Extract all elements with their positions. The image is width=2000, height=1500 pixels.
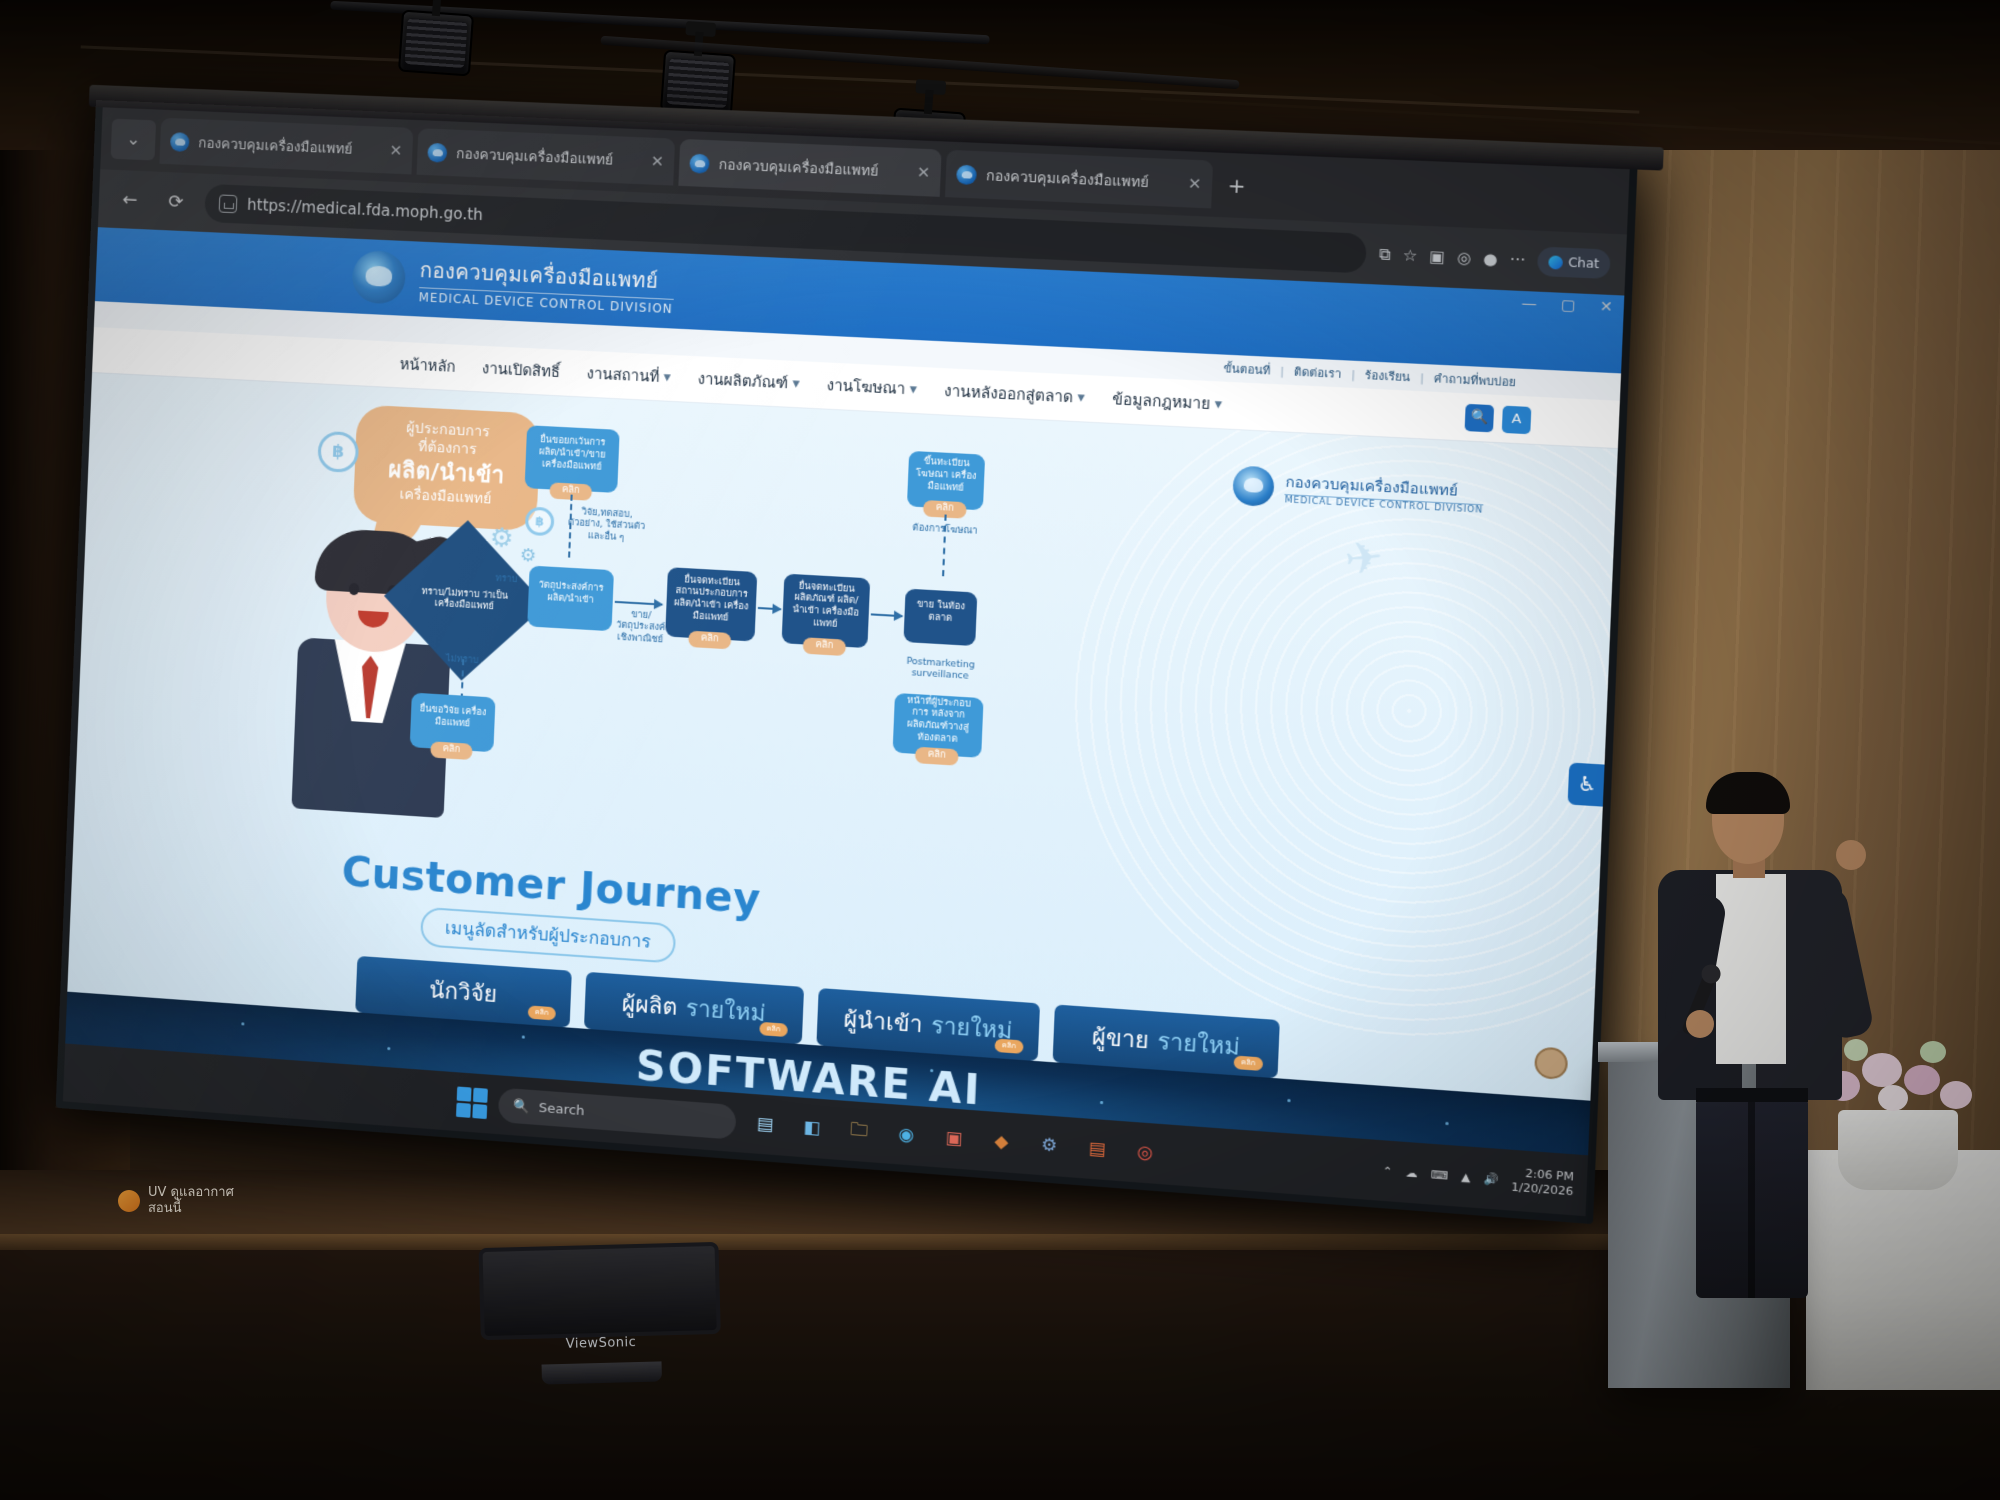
edge-icon[interactable]: ◉ — [888, 1116, 925, 1154]
uv-line-1: UV ดูแลอากาศ — [148, 1185, 234, 1201]
click-badge: คลิก — [994, 1038, 1023, 1053]
journey-title-block: Customer Journey เมนูลัดสำหรับผู้ประกอบก… — [333, 848, 768, 969]
customer-journey-infographic: กองควบคุมเครื่องมือแพทย์ MEDICAL DEVICE … — [65, 373, 1618, 1155]
task-view-icon[interactable]: ▤ — [747, 1106, 784, 1143]
chevron-down-icon: ▼ — [1077, 393, 1085, 404]
volume-icon[interactable]: 🔊 — [1483, 1171, 1499, 1186]
nav-item-establishment[interactable]: งานสถานที่▼ — [586, 362, 671, 390]
site-title-block: กองควบคุมเครื่องมือแพทย์ MEDICAL DEVICE … — [418, 254, 674, 316]
flow-arrow — [758, 607, 781, 610]
system-tray: ⌃ ☁ ⌨ ▲ 🔊 2:06 PM 1/20/2026 — [1382, 1156, 1574, 1199]
back-icon[interactable]: ← — [112, 182, 147, 217]
flow-label-commercial: ขาย/ วัตถุประสงค์ เชิงพาณิชย์ — [609, 609, 672, 647]
nav-item-permissions[interactable]: งานเปิดสิทธิ์ — [482, 357, 561, 384]
browser-tab[interactable]: กองควบคุมเครื่องมือแพทย์ ✕ — [417, 128, 676, 185]
nav-label: งานผลิตภัณฑ์ — [697, 367, 788, 395]
powerpoint-icon[interactable]: ▤ — [1078, 1130, 1116, 1168]
flow-box-text: ยื่นขอวิจัย เครื่องมือแพทย์ — [417, 704, 489, 732]
stage-spotlight — [398, 10, 474, 77]
office-icon[interactable]: ◆ — [983, 1123, 1020, 1161]
language-icon[interactable]: A — [1502, 405, 1532, 434]
mdcd-logo-small — [1233, 465, 1276, 507]
flow-label-postmarket: Postmarketing surveillance — [889, 656, 991, 685]
button-label: ผู้ผลิต — [621, 985, 678, 1025]
onedrive-icon[interactable]: ☁ — [1405, 1166, 1418, 1180]
nav-item-advertising[interactable]: งานโฆษณา▼ — [826, 374, 917, 402]
button-label: ผู้ขาย — [1091, 1018, 1149, 1058]
button-highlight: รายใหม่ — [685, 990, 766, 1031]
gear-icon: ⚙ — [519, 545, 536, 567]
tab-title: กองควบคุมเครื่องมือแพทย์ — [718, 153, 879, 182]
nav-item-product[interactable]: งานผลิตภัณฑ์▼ — [697, 367, 800, 395]
confidence-monitor: ViewSonic — [478, 1242, 721, 1368]
store-icon[interactable]: ▣ — [935, 1120, 972, 1158]
nav-label: งานโฆษณา — [826, 374, 906, 401]
monitor-brand: ViewSonic — [566, 1335, 637, 1352]
tab-title: กองควบคุมเครื่องมือแพทย์ — [198, 131, 353, 160]
browser-tab[interactable]: กองควบคุมเครื่องมือแพทย์ ✕ — [159, 118, 413, 175]
button-highlight: รายใหม่ — [1157, 1023, 1241, 1065]
uv-notice-badge: UV ดูแลอากาศ สอนนี้ — [118, 1185, 234, 1216]
click-badge[interactable]: คลิก — [688, 631, 731, 649]
web-page: กองควบคุมเครื่องมือแพทย์ MEDICAL DEVICE … — [65, 227, 1624, 1155]
util-link-complaint[interactable]: ร้องเรียน — [1365, 365, 1411, 386]
presenter-person — [1640, 778, 1870, 1298]
accessibility-icon[interactable]: ♿ — [1568, 762, 1607, 806]
chat-button[interactable]: Chat — [1537, 246, 1611, 279]
site-favicon — [956, 164, 977, 184]
click-badge[interactable]: คลิก — [803, 638, 847, 657]
nav-label: งานเปิดสิทธิ์ — [482, 357, 561, 384]
flow-label-research: วิจัย,ทดสอบ, ตัวอย่าง, ใช้ส่วนตัว และอื่… — [562, 506, 652, 545]
screen-surface: ⌄ กองควบคุมเครื่องมือแพทย์ ✕ กองควบคุมเค… — [63, 107, 1630, 1216]
more-options-icon[interactable]: ··· — [1509, 251, 1525, 271]
search-icon: 🔍 — [513, 1098, 530, 1114]
nav-item-home[interactable]: หน้าหลัก — [399, 353, 456, 379]
flow-box-text: ยื่นขอยกเว้นการผลิต/นำเข้า/ขาย เครื่องมื… — [531, 435, 613, 475]
settings-icon[interactable]: ⚙ — [1030, 1127, 1068, 1165]
journey-title-en: Customer Journey — [335, 848, 768, 923]
chevron-down-icon[interactable]: ⌄ — [111, 119, 157, 161]
chevron-up-icon[interactable]: ⌃ — [1382, 1164, 1393, 1178]
button-label: นักวิจัย — [429, 972, 498, 1012]
widgets-icon[interactable]: ◧ — [793, 1109, 830, 1146]
mdcd-logo — [351, 250, 406, 305]
lock-icon — [219, 194, 238, 213]
coin-icon: ฿ — [525, 506, 555, 536]
edge-browser-window: ⌄ กองควบคุมเครื่องมือแพทย์ ✕ กองควบคุมเค… — [63, 107, 1630, 1216]
uv-line-2: สอนนี้ — [148, 1201, 234, 1217]
nav-item-postmarket[interactable]: งานหลังออกสู่ตลาด▼ — [944, 379, 1085, 410]
coin-icon: ฿ — [317, 431, 359, 473]
airplane-icon: ✈ — [1342, 531, 1386, 586]
click-badge[interactable]: คลิก — [430, 742, 472, 760]
refresh-icon[interactable]: ⟳ — [158, 184, 193, 220]
chrome-icon[interactable]: ◎ — [1126, 1134, 1164, 1172]
nav-label: หน้าหลัก — [399, 353, 456, 379]
util-link-faq[interactable]: คำถามที่พบบ่อย — [1433, 369, 1516, 392]
site-favicon — [170, 132, 190, 152]
site-favicon — [689, 153, 710, 173]
favorite-star-icon[interactable]: ☆ — [1402, 246, 1417, 265]
presenter-gesture-hand — [1836, 840, 1866, 870]
flow-box-advertising[interactable]: ขึ้นทะเบียนโฆษณา เครื่องมือแพทย์ คลิก — [907, 451, 985, 510]
close-icon[interactable]: ✕ — [916, 163, 930, 182]
tab-title: กองควบคุมเครื่องมือแพทย์ — [986, 164, 1150, 194]
nav-label: งานหลังออกสู่ตลาด — [944, 379, 1074, 409]
flow-box-text: ยื่นจดทะเบียนผลิตภัณฑ์ ผลิต/นำเข้า เครื่… — [788, 581, 863, 633]
flow-box-purpose[interactable]: วัตถุประสงค์การผลิต/นำเข้า — [527, 566, 614, 632]
flow-box-research[interactable]: ยื่นขอวิจัย เครื่องมือแพทย์ คลิก — [410, 693, 496, 753]
profile-icon[interactable]: ● — [1483, 249, 1498, 268]
search-icon[interactable]: 🔍 — [1465, 403, 1495, 432]
flow-box-text: ขาย ในท้องตลาด — [911, 600, 971, 627]
minimize-button[interactable]: — — [1521, 295, 1537, 312]
speech-bubble: ผู้ประกอบการ ที่ต้องการ ผลิต/นำเข้า เครื… — [353, 404, 541, 531]
nav-label: ข้อมูลกฎหมาย — [1112, 388, 1211, 417]
click-badge[interactable]: คลิก — [915, 747, 959, 766]
browser-tab[interactable]: กองควบคุมเครื่องมือแพทย์ ✕ — [945, 150, 1213, 209]
flow-box-text: ยื่นจดทะเบียนสถานประกอบการผลิต/นำเข้า เค… — [672, 574, 751, 626]
windows-start-icon[interactable] — [456, 1086, 488, 1119]
flow-arrow — [871, 613, 903, 617]
address-bar-url: https://medical.fda.moph.go.th — [247, 196, 484, 224]
button-label: ผู้นำเข้า — [843, 1001, 923, 1042]
split-screen-icon[interactable]: ⧉ — [1379, 245, 1391, 264]
collections-icon[interactable]: ▣ — [1429, 247, 1445, 267]
taskbar-clock[interactable]: 2:06 PM 1/20/2026 — [1511, 1166, 1574, 1199]
flow-label-yes: ทราบ — [486, 573, 527, 587]
chevron-down-icon: ▼ — [909, 384, 917, 395]
nav-label: งานสถานที่ — [586, 362, 660, 389]
chevron-down-icon: ▼ — [663, 372, 671, 383]
util-link-steps[interactable]: ขั้นตอนที่ — [1223, 359, 1271, 380]
click-badge: คลิก — [527, 1005, 555, 1020]
maximize-button[interactable]: ▢ — [1561, 297, 1576, 314]
browser-tab-active[interactable]: กองควบคุมเครื่องมือแพทย์ ✕ — [678, 139, 941, 197]
screenshot-root: ⌄ กองควบคุมเครื่องมือแพทย์ ✕ กองควบคุมเค… — [0, 0, 2000, 1500]
flow-box-to-market[interactable]: ขาย ในท้องตลาด — [903, 589, 977, 647]
chat-label: Chat — [1568, 255, 1600, 271]
projection-screen: ⌄ กองควบคุมเครื่องมือแพทย์ ✕ กองควบคุมเค… — [56, 100, 1638, 1224]
wifi-icon[interactable]: ▲ — [1461, 1170, 1471, 1184]
flow-label-ads: ต้องการโฆษณา — [912, 523, 978, 538]
click-badge: คลิก — [759, 1022, 788, 1037]
tab-title: กองควบคุมเครื่องมือแพทย์ — [456, 142, 614, 171]
flow-box-text: หน้าที่ผู้ประกอบการ หลังจากผลิตภัณฑ์วางส… — [899, 695, 977, 748]
close-window-button[interactable]: ✕ — [1599, 299, 1613, 316]
site-favicon — [427, 142, 447, 162]
flow-box-register-product[interactable]: ยื่นจดทะเบียนผลิตภัณฑ์ ผลิต/นำเข้า เครื่… — [782, 574, 871, 649]
flow-arrow — [615, 601, 663, 606]
flow-box-text: ขึ้นทะเบียนโฆษณา เครื่องมือแพทย์ — [914, 457, 979, 496]
keyboard-icon[interactable]: ⌨ — [1430, 1167, 1448, 1182]
close-icon[interactable]: ✕ — [389, 141, 403, 160]
journey-title-th: เมนูลัดสำหรับผู้ประกอบการ — [420, 907, 677, 964]
new-tab-button[interactable]: + — [1218, 167, 1256, 204]
uv-icon — [118, 1190, 140, 1212]
decision-text: ทราบ/ไม่ทราบ ว่าเป็นเครื่องมือแพทย์ — [417, 586, 512, 614]
chevron-down-icon: ▼ — [792, 379, 800, 390]
copilot-icon[interactable]: ◎ — [1457, 248, 1472, 267]
util-link-contact[interactable]: ติดต่อเรา — [1294, 362, 1342, 383]
flow-box-register-place[interactable]: ยื่นจดทะเบียนสถานประกอบการผลิต/นำเข้า เค… — [665, 567, 757, 641]
taskbar-search[interactable]: 🔍 Search — [498, 1088, 737, 1140]
search-placeholder: Search — [538, 1100, 585, 1119]
flow-box-report[interactable]: หน้าที่ผู้ประกอบการ หลังจากผลิตภัณฑ์วางส… — [893, 693, 984, 758]
file-explorer-icon[interactable]: 🗀 — [841, 1113, 878, 1150]
toolbar-actions: ⧉ ☆ ▣ ◎ ● ··· Chat — [1379, 240, 1611, 279]
nav-icon-group: 🔍 A — [1465, 403, 1532, 433]
close-icon[interactable]: ✕ — [1188, 174, 1202, 193]
chat-icon — [1548, 255, 1563, 269]
flow-box-text: วัตถุประสงค์การผลิต/นำเข้า — [534, 580, 607, 608]
flow-box-exempt[interactable]: ยื่นขอยกเว้นการผลิต/นำเข้า/ขาย เครื่องมื… — [525, 425, 620, 493]
click-badge: คลิก — [1233, 1055, 1263, 1071]
chevron-down-icon: ▼ — [1214, 399, 1222, 410]
close-icon[interactable]: ✕ — [650, 152, 664, 171]
nav-item-law[interactable]: ข้อมูลกฎหมาย▼ — [1112, 388, 1223, 417]
stage-spotlight — [660, 50, 736, 117]
